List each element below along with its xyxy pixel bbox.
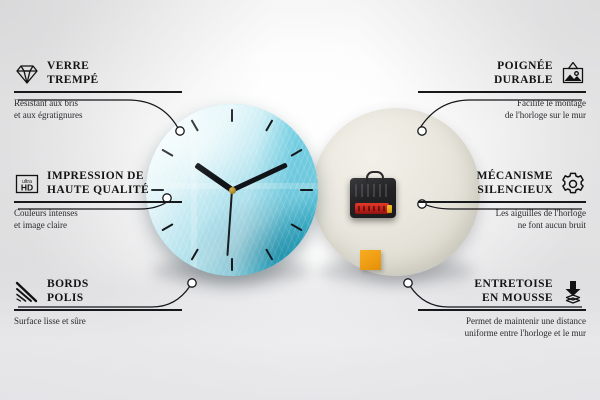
feature-poignee-durable: POIGNÉE DURABLE Facilite le montage de l… [418,60,586,121]
foam-spacer [360,250,381,270]
clock-tick [231,109,233,122]
feature-title: POIGNÉE DURABLE [494,60,553,87]
battery-label [358,206,385,211]
mechanism-hanger-icon [366,171,384,182]
diagonal-lines-icon [14,279,40,305]
feature-bords-polis: BORDS POLIS Surface lisse et sûre [14,278,182,327]
feature-divider [418,309,586,310]
feature-title: ENTRETOISE EN MOUSSE [474,278,553,305]
feature-description: Résistant aux bris et aux égratignures [14,97,182,121]
feature-divider [418,91,586,92]
clock-mechanism [350,178,396,218]
feature-divider [14,201,182,202]
infographic-canvas: VERRE TREMPÉ Résistant aux bris et aux é… [0,0,600,400]
diamond-icon [14,61,40,87]
ultra-hd-icon: ultra HD [14,171,40,197]
feature-description: Permet de maintenir une distance uniform… [418,315,586,339]
feature-title: IMPRESSION DE HAUTE QUALITÉ [47,170,149,197]
feature-title: MÉCANISME SILENCIEUX [477,170,553,197]
gear-icon [560,171,586,197]
feature-verre-trempe: VERRE TREMPÉ Résistant aux bris et aux é… [14,60,182,121]
clock-tick [300,189,313,191]
feature-entretoise-en-mousse: ENTRETOISE EN MOUSSE Permet de maintenir… [418,278,586,339]
feature-divider [418,201,586,202]
feature-divider [14,309,182,310]
battery-terminal [387,205,392,213]
feature-description: Couleurs intenses et image claire [14,207,182,231]
mechanism-detail [355,184,391,197]
feature-title: VERRE TREMPÉ [47,60,99,87]
feature-impression-haute-qualite: ultra HD IMPRESSION DE HAUTE QUALITÉ Cou… [14,170,182,231]
battery [355,203,389,214]
feature-description: Les aiguilles de l'horloge ne font aucun… [418,207,586,231]
clock-tick [231,258,233,271]
feature-title: BORDS POLIS [47,278,89,305]
feature-description: Surface lisse et sûre [14,315,182,327]
svg-text:HD: HD [21,182,33,192]
feature-description: Facilite le montage de l'horloge sur le … [418,97,586,121]
arrow-down-stack-icon [560,279,586,305]
feature-mecanisme-silencieux: MÉCANISME SILENCIEUX Les aiguilles de l'… [418,170,586,231]
feature-divider [14,91,182,92]
picture-hanger-icon [560,61,586,87]
clock-center-cap [229,187,236,194]
